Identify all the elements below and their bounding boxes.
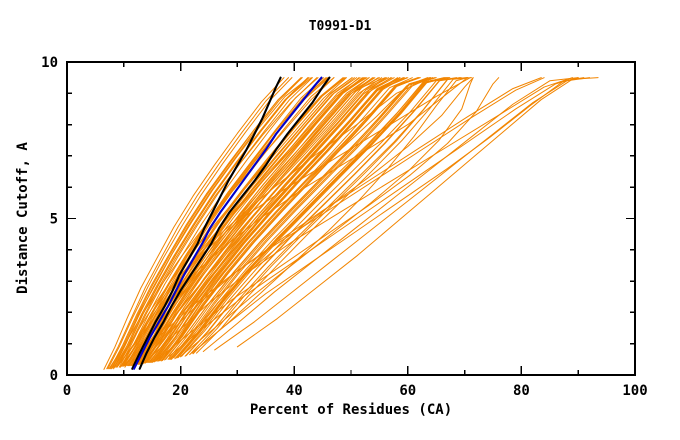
page-title: T0991-D1: [309, 19, 372, 34]
plot-container: T0991-D1 0204060801000510 Percent of Res…: [0, 0, 680, 440]
y-tick-label: 10: [41, 55, 58, 71]
x-tick-label: 40: [286, 383, 303, 399]
y-tick-label: 0: [50, 368, 58, 384]
x-tick-label: 20: [172, 383, 189, 399]
x-tick-label: 60: [399, 383, 416, 399]
x-axis-title: Percent of Residues (CA): [250, 402, 452, 418]
y-tick-label: 5: [50, 212, 58, 228]
x-tick-label: 0: [63, 383, 71, 399]
y-axis-title: Distance Cutoff, A: [15, 142, 31, 294]
x-tick-label: 80: [513, 383, 530, 399]
x-tick-label: 100: [622, 383, 647, 399]
distance-cutoff-chart: T0991-D1 0204060801000510 Percent of Res…: [0, 0, 680, 440]
